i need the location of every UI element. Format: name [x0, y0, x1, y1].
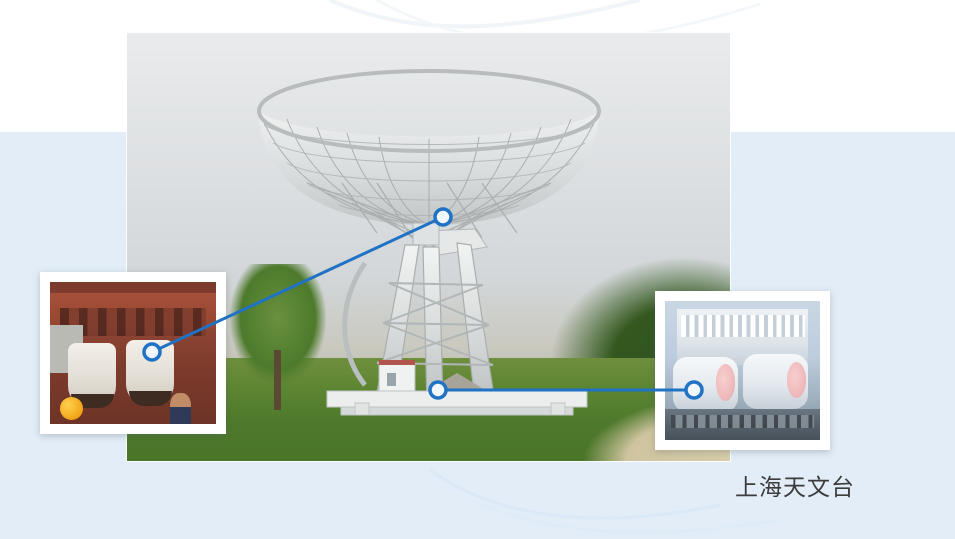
callout-left-worker [170, 393, 192, 424]
callout-left-orange-object [60, 397, 83, 420]
callout-right-drum-1 [673, 357, 738, 413]
callout-right-gearbox-photo [655, 291, 830, 450]
callout-left-cylinder-2 [126, 340, 174, 405]
callout-right-image [665, 301, 820, 440]
callout-left-image [50, 282, 216, 424]
drum-2-pink-plate [787, 362, 807, 399]
drum-1-pink-plate [716, 364, 736, 401]
callout-right-drum-2 [743, 354, 808, 410]
callout-left-bearing-photo [40, 272, 226, 434]
callout-right-bolt-row [671, 415, 814, 428]
slide-canvas: 上海天文台 [0, 0, 955, 539]
caption-observatory-name: 上海天文台 [735, 468, 855, 502]
callout-right-fins [681, 315, 805, 337]
